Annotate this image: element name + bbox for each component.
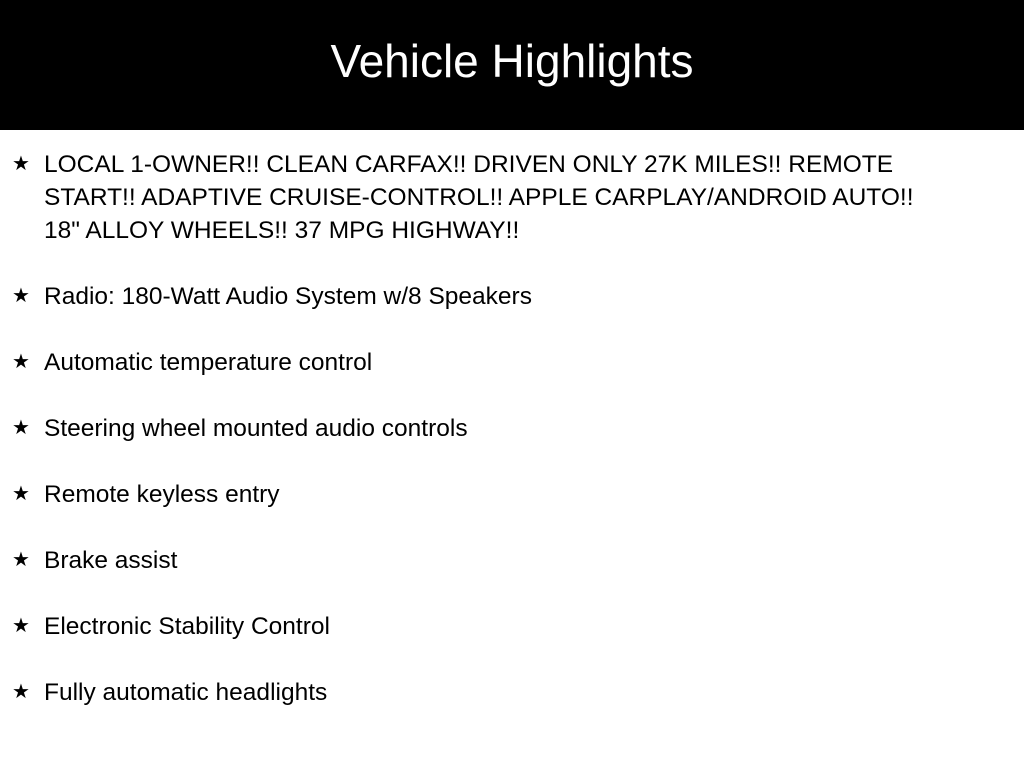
highlights-list: ★ LOCAL 1-OWNER!! CLEAN CARFAX!! DRIVEN …	[0, 130, 1024, 709]
vehicle-highlights-page: Vehicle Highlights ★ LOCAL 1-OWNER!! CLE…	[0, 0, 1024, 768]
star-bullet-icon: ★	[12, 478, 34, 511]
star-bullet-icon: ★	[12, 544, 34, 577]
list-item-label: Electronic Stability Control	[44, 610, 955, 643]
list-item: ★ Radio: 180-Watt Audio System w/8 Speak…	[0, 280, 1024, 313]
page-title: Vehicle Highlights	[330, 37, 693, 85]
star-bullet-icon: ★	[12, 148, 34, 181]
list-item: ★ Steering wheel mounted audio controls	[0, 412, 1024, 445]
list-item-label: Fully automatic headlights	[44, 676, 955, 709]
star-bullet-icon: ★	[12, 610, 34, 643]
star-bullet-icon: ★	[12, 676, 34, 709]
header-bar: Vehicle Highlights	[0, 0, 1024, 130]
list-item-label: Brake assist	[44, 544, 955, 577]
list-item: ★ LOCAL 1-OWNER!! CLEAN CARFAX!! DRIVEN …	[0, 148, 1024, 247]
list-item-label: Automatic temperature control	[44, 346, 955, 379]
list-item: ★ Automatic temperature control	[0, 346, 1024, 379]
list-item-label: Remote keyless entry	[44, 478, 955, 511]
list-item: ★ Electronic Stability Control	[0, 610, 1024, 643]
star-bullet-icon: ★	[12, 280, 34, 313]
list-item: ★ Remote keyless entry	[0, 478, 1024, 511]
star-bullet-icon: ★	[12, 412, 34, 445]
star-bullet-icon: ★	[12, 346, 34, 379]
list-item-label: Radio: 180-Watt Audio System w/8 Speaker…	[44, 280, 955, 313]
list-item-label: Steering wheel mounted audio controls	[44, 412, 955, 445]
list-item-label: LOCAL 1-OWNER!! CLEAN CARFAX!! DRIVEN ON…	[44, 148, 955, 247]
list-item: ★ Brake assist	[0, 544, 1024, 577]
list-item: ★ Fully automatic headlights	[0, 676, 1024, 709]
